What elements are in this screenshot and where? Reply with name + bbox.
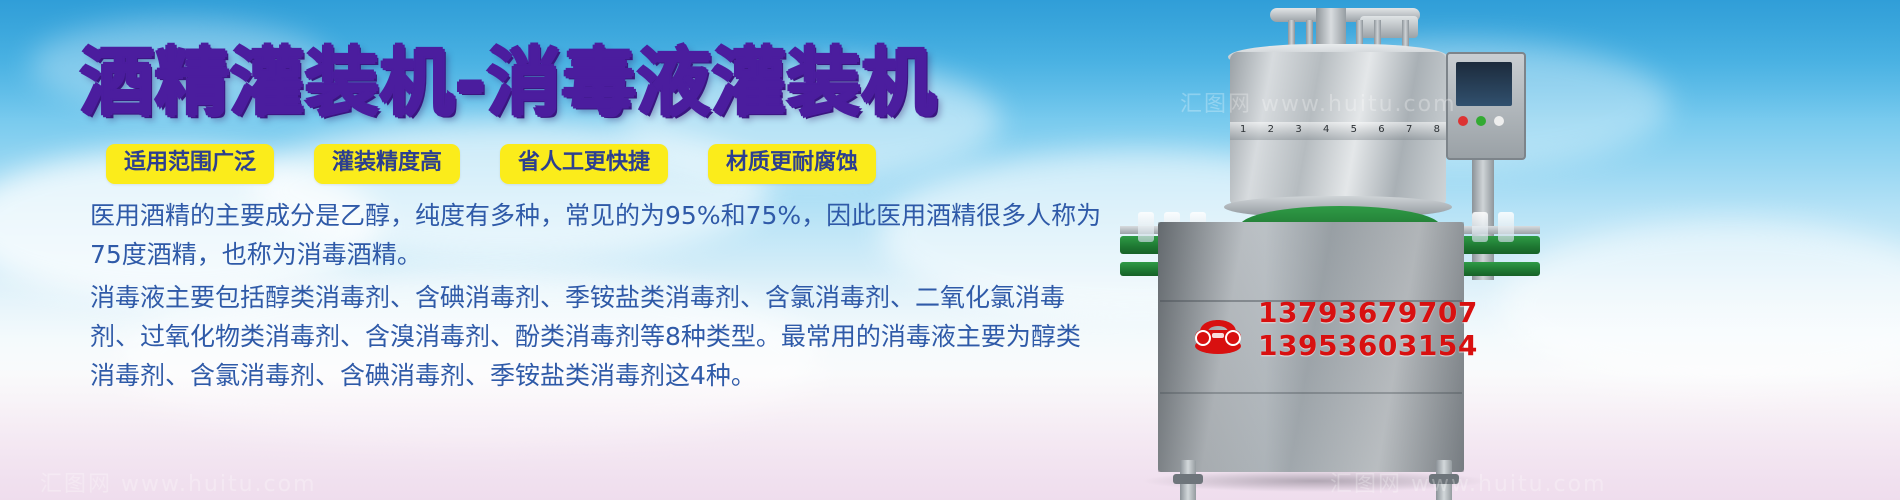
- dial-number: 2: [1268, 124, 1274, 140]
- machine-hmi-screen: [1456, 62, 1512, 106]
- promo-banner: 酒精灌装机-消毒液灌装机 适用范围广泛 灌装精度高 省人工更快捷 材质更耐腐蚀 …: [0, 0, 1900, 500]
- phone-number-1: 13793679707: [1258, 296, 1478, 329]
- machine-dial-numbers: 1 2 3 4 5 6 7 8: [1240, 124, 1440, 140]
- machine-stop-button: [1458, 116, 1468, 126]
- bottle: [1138, 212, 1154, 242]
- bottle: [1498, 212, 1514, 242]
- description-paragraph-1: 医用酒精的主要成分是乙醇，纯度有多种，常见的为95%和75%，因此医用酒精很多人…: [90, 196, 1105, 274]
- machine-hopper: [1360, 16, 1418, 38]
- dial-number: 8: [1434, 124, 1440, 140]
- contact-block: 13793679707 13953603154: [1190, 296, 1478, 362]
- dial-number: 6: [1378, 124, 1384, 140]
- watermark: 汇图网 www.huitu.com: [40, 466, 317, 498]
- bottle: [1472, 212, 1488, 242]
- dial-number: 1: [1240, 124, 1246, 140]
- feature-pill-1: 适用范围广泛: [106, 144, 274, 184]
- description-paragraph-2: 消毒液主要包括醇类消毒剂、含碘消毒剂、季铵盐类消毒剂、含氯消毒剂、二氧化氯消毒剂…: [90, 278, 1105, 395]
- description-block: 医用酒精的主要成分是乙醇，纯度有多种，常见的为95%和75%，因此医用酒精很多人…: [90, 196, 1105, 397]
- feature-pill-list: 适用范围广泛 灌装精度高 省人工更快捷 材质更耐腐蚀: [106, 144, 876, 184]
- phone-number-2: 13953603154: [1258, 329, 1478, 362]
- machine-foot: [1429, 474, 1459, 484]
- phone-number-list: 13793679707 13953603154: [1258, 296, 1478, 362]
- machine-base-seam: [1160, 392, 1462, 394]
- machine-foot: [1173, 474, 1203, 484]
- feature-pill-3: 省人工更快捷: [500, 144, 668, 184]
- dial-number: 7: [1406, 124, 1412, 140]
- machine-reset-button: [1494, 116, 1504, 126]
- filling-machine-image: 1 2 3 4 5 6 7 8: [1120, 0, 1900, 500]
- feature-pill-4: 材质更耐腐蚀: [708, 144, 876, 184]
- machine-start-button: [1476, 116, 1486, 126]
- dial-number: 3: [1295, 124, 1301, 140]
- dial-number: 4: [1323, 124, 1329, 140]
- dial-number: 5: [1351, 124, 1357, 140]
- feature-pill-2: 灌装精度高: [314, 144, 460, 184]
- page-title: 酒精灌装机-消毒液灌装机: [80, 44, 937, 122]
- telephone-icon: [1190, 302, 1246, 356]
